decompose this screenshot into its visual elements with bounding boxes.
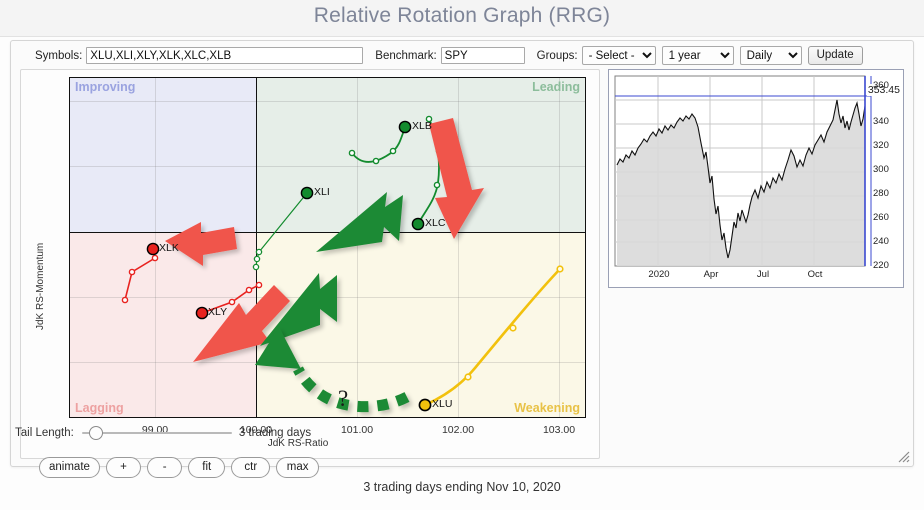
benchmark-y-tick: 320 — [873, 141, 889, 151]
benchmark-input[interactable] — [441, 47, 525, 64]
y-axis-title: JdK RS-Momentum — [35, 243, 46, 330]
fit-button[interactable]: fit — [188, 457, 225, 478]
benchmark-y-tick: 260 — [873, 213, 889, 223]
tail-XLU[interactable] — [419, 266, 562, 410]
app-header: Relative Rotation Graph (RRG) — [0, 0, 924, 37]
ticker-label-xlc: XLC — [425, 217, 445, 229]
tail-length-slider[interactable] — [82, 425, 232, 441]
rrg-tails-svg: ? — [69, 77, 586, 418]
chart-caption: 3 trading days ending Nov 10, 2020 — [0, 480, 924, 494]
ticker-label-xlu: XLU — [432, 398, 452, 410]
rrg-chart-card[interactable]: Improving Leading Lagging Weakening — [20, 69, 600, 459]
ticker-label-xlk: XLK — [159, 242, 179, 254]
max-button[interactable]: max — [276, 457, 319, 478]
benchmark-x-tick: Jul — [741, 269, 785, 280]
zoom-in-button[interactable]: + — [106, 457, 141, 478]
zoom-out-button[interactable]: - — [147, 457, 182, 478]
center-button[interactable]: ctr — [231, 457, 270, 478]
green-arrow-xlb-icon — [316, 192, 403, 252]
groups-select[interactable]: - Select - — [582, 46, 656, 65]
x-tick-label: 103.00 — [529, 424, 589, 436]
benchmark-y-tick: 280 — [873, 189, 889, 199]
benchmark-y-tick: 360 — [873, 81, 889, 91]
groups-label: Groups: — [537, 50, 578, 62]
symbols-input[interactable] — [86, 47, 363, 64]
benchmark-y-tick: 340 — [873, 117, 889, 127]
toolbar: Symbols: Benchmark: Groups: - Select - 1… — [11, 41, 913, 67]
benchmark-x-tick: Apr — [689, 269, 733, 280]
benchmark-chart-svg — [609, 70, 903, 287]
tail-length-label: Tail Length: — [15, 427, 74, 439]
tail-XLB[interactable] — [349, 121, 410, 163]
benchmark-x-tick: 2020 — [637, 269, 681, 280]
ticker-label-xli: XLI — [314, 186, 330, 198]
ticker-label-xly: XLY — [208, 306, 227, 318]
period-select[interactable]: 1 year — [662, 46, 734, 65]
tail-length-slider-knob[interactable] — [89, 426, 103, 440]
page-title: Relative Rotation Graph (RRG) — [0, 4, 924, 28]
benchmark-x-tick: Oct — [793, 269, 837, 280]
tail-length-value: 3 trading days — [239, 427, 311, 439]
main-panel: Symbols: Benchmark: Groups: - Select - 1… — [10, 40, 914, 467]
animate-button[interactable]: animate — [39, 457, 100, 478]
frequency-select[interactable]: Daily — [740, 46, 802, 65]
resize-grip-icon[interactable] — [896, 449, 910, 463]
tail-length-row: Tail Length: 3 trading days — [15, 423, 315, 443]
question-mark-annotation: ? — [338, 386, 348, 411]
rrg-app: Relative Rotation Graph (RRG) Symbols: B… — [0, 0, 924, 510]
update-button[interactable]: Update — [808, 46, 863, 65]
chart-controls-row: animate + - fit ctr max — [39, 456, 319, 478]
green-dashed-arrow-xlu-icon — [255, 327, 407, 407]
rrg-plot-area[interactable]: Improving Leading Lagging Weakening — [69, 77, 586, 418]
benchmark-label: Benchmark: — [375, 50, 436, 62]
x-tick-label: 102.00 — [428, 424, 488, 436]
benchmark-y-tick: 300 — [873, 165, 889, 175]
tail-length-slider-track[interactable] — [82, 432, 232, 434]
benchmark-y-tick: 240 — [873, 237, 889, 247]
benchmark-chart-card[interactable]: SPY — [608, 69, 904, 288]
x-tick-label: 101.00 — [327, 424, 387, 436]
tail-XLI[interactable] — [253, 187, 312, 269]
tail-XLK[interactable] — [122, 243, 158, 302]
symbols-label: Symbols: — [35, 50, 82, 62]
ticker-label-xlb: XLB — [412, 120, 432, 132]
